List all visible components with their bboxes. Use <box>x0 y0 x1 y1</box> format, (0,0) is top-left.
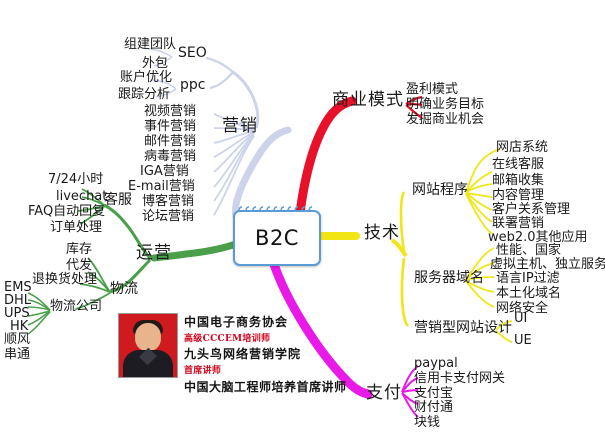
watermark-line-5: 中国大脑工程师培养首席讲师 <box>184 378 394 395</box>
node-marketing-website-design[interactable]: 营销型网站设计 <box>414 321 512 336</box>
node-seo[interactable]: SEO <box>178 46 207 61</box>
leaf-online-store-system[interactable]: 网店系统 <box>496 141 548 155</box>
leaf-email-marketing-en[interactable]: E-mail营销 <box>128 180 195 194</box>
leaf-faq-auto-reply[interactable]: FAQ自动回复 <box>28 205 105 219</box>
leaf-ue[interactable]: UE <box>514 334 532 348</box>
leaf-profit-model[interactable]: 盈利模式 <box>406 83 458 97</box>
central-node[interactable]: B2C <box>233 210 321 266</box>
watermark-line-4: 首席讲师 <box>184 363 394 376</box>
watermark-line-3: 九头鸟网络营销学院 <box>184 345 394 362</box>
central-node-label: B2C <box>235 212 319 264</box>
leaf-build-team[interactable]: 组建团队 <box>124 38 176 52</box>
leaf-video-marketing[interactable]: 视频营销 <box>144 105 196 119</box>
instructor-photo <box>118 313 178 378</box>
leaf-online-customer-service[interactable]: 在线客服 <box>492 158 544 172</box>
watermark-line-2: 高级CCCEM培训师 <box>184 331 394 344</box>
leaf-724-hours[interactable]: 7/24小时 <box>48 173 103 187</box>
leaf-credit-card-gateway[interactable]: 信用卡支付网关 <box>414 372 505 386</box>
leaf-discover-opportunity[interactable]: 发掘商业机会 <box>406 113 484 127</box>
leaf-chuantong[interactable]: 串通 <box>4 348 30 362</box>
leaf-language-ip-filter[interactable]: 语言IP过滤 <box>496 272 560 286</box>
leaf-tenpay[interactable]: 财付通 <box>414 401 453 415</box>
leaf-account-optimization[interactable]: 账户优化 <box>120 71 172 85</box>
leaf-alipay[interactable]: 支付宝 <box>414 387 453 401</box>
leaf-performance-country[interactable]: 性能、国家 <box>496 244 561 258</box>
leaf-paypal[interactable]: paypal <box>414 357 458 371</box>
branch-label-technology[interactable]: 技术 <box>364 225 400 243</box>
branch-label-operations[interactable]: 运营 <box>136 245 172 263</box>
leaf-blog-marketing[interactable]: 博客营销 <box>142 195 194 209</box>
leaf-iga-marketing[interactable]: IGA营销 <box>140 165 189 179</box>
node-customer-service[interactable]: 客服 <box>104 193 132 208</box>
leaf-content-management[interactable]: 内容管理 <box>492 189 544 203</box>
branch-label-business-model[interactable]: 商业模式 <box>332 92 404 110</box>
leaf-shunfeng[interactable]: 顺风 <box>4 333 30 347</box>
leaf-ui[interactable]: UI <box>514 312 527 326</box>
mindmap-canvas: B2C 营销 SEO 组建团队 外包 ppc 账户优化 跟踪分析 视频营销 事件… <box>0 0 605 447</box>
leaf-dropship[interactable]: 代发 <box>66 259 92 273</box>
leaf-viral-marketing[interactable]: 病毒营销 <box>144 150 196 164</box>
leaf-returns-exchange[interactable]: 退换货处理 <box>32 273 97 287</box>
leaf-email-marketing-cn[interactable]: 邮件营销 <box>144 135 196 149</box>
watermark-line-1: 中国电子商务协会 <box>184 313 394 330</box>
leaf-forum-marketing[interactable]: 论坛营销 <box>142 210 194 224</box>
node-website-program[interactable]: 网站程序 <box>412 183 468 198</box>
leaf-crm[interactable]: 客户关系管理 <box>492 203 570 217</box>
branch-label-marketing[interactable]: 营销 <box>222 118 258 136</box>
leaf-tracking-analysis[interactable]: 跟踪分析 <box>118 88 170 102</box>
node-logistics-company[interactable]: 物流公司 <box>50 300 102 314</box>
leaf-localized-domain[interactable]: 本土化域名 <box>496 287 561 301</box>
leaf-event-marketing[interactable]: 事件营销 <box>144 120 196 134</box>
leaf-outsource[interactable]: 外包 <box>142 57 168 71</box>
leaf-kuaiqian[interactable]: 块钱 <box>414 416 440 430</box>
leaf-clear-business-goal[interactable]: 明确业务目标 <box>406 98 484 112</box>
leaf-email-collection[interactable]: 邮箱收集 <box>492 174 544 188</box>
node-server-domain[interactable]: 服务器域名 <box>414 271 484 286</box>
leaf-affiliate-marketing[interactable]: 联署营销 <box>492 217 544 231</box>
leaf-livechat[interactable]: livechat <box>56 190 107 204</box>
leaf-inventory[interactable]: 库存 <box>66 243 92 257</box>
node-ppc[interactable]: ppc <box>180 78 205 93</box>
leaf-vps-dedicated-server[interactable]: 虚拟主机、独立服务器 <box>490 258 605 272</box>
node-logistics[interactable]: 物流 <box>110 282 138 297</box>
leaf-order-processing[interactable]: 订单处理 <box>50 221 102 235</box>
